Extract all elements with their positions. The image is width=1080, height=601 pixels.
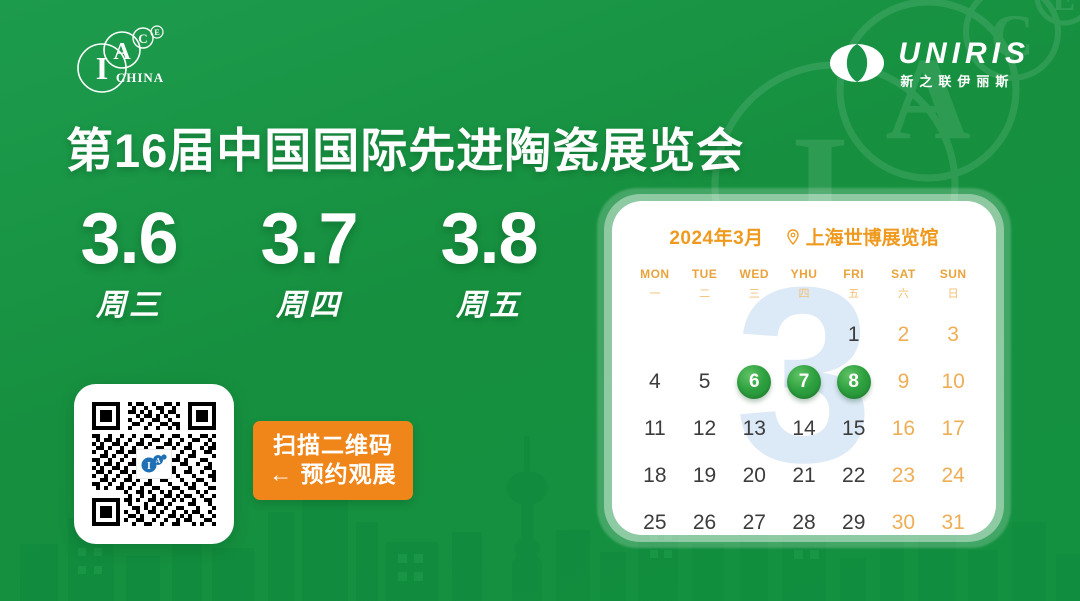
calendar-day: 4 (630, 358, 680, 405)
calendar-day: 13 (729, 405, 779, 452)
date-number: 3.7 (250, 205, 368, 274)
date-weekday: 周三 (70, 280, 188, 324)
calendar-day-highlighted[interactable]: 6 (729, 358, 779, 405)
svg-text:C: C (138, 31, 147, 46)
scan-button-line1: 扫描二维码 (273, 433, 393, 459)
calendar-weekday-mon: MON一 (630, 267, 680, 301)
calendar-day: 27 (729, 499, 779, 535)
date-item: 3.6 周三 (70, 205, 188, 324)
calendar-weekday-sat: SAT六 (879, 267, 929, 301)
calendar-day-badge: 8 (837, 365, 871, 399)
calendar-weekday-sun: SUN日 (928, 267, 978, 301)
calendar-day-highlighted[interactable]: 7 (779, 358, 829, 405)
uniris-brand-cn: 新之联伊丽斯 (898, 75, 1014, 88)
calendar-day: 2 (879, 311, 929, 358)
calendar-day: 18 (630, 452, 680, 499)
calendar-weekday-yhu: YHU四 (779, 267, 829, 301)
date-weekday: 周五 (430, 280, 548, 324)
calendar-day-empty (680, 311, 730, 358)
calendar-weekday-en: SAT (879, 267, 929, 281)
calendar-day: 23 (879, 452, 929, 499)
svg-text:I: I (147, 461, 151, 472)
calendar-weekday-en: MON (630, 267, 680, 281)
calendar-day: 21 (779, 452, 829, 499)
svg-text:E: E (1053, 0, 1076, 18)
calendar-day-grid: 1234567891011121314151617181920212223242… (630, 311, 978, 535)
calendar-weekday-cn: 一 (630, 285, 680, 301)
page-title: 第16届中国国际先进陶瓷展览会 (66, 112, 744, 181)
calendar-day: 31 (928, 499, 978, 535)
calendar-weekday-cn: 日 (928, 285, 978, 301)
calendar-day: 12 (680, 405, 730, 452)
calendar-weekday-en: WED (729, 267, 779, 281)
calendar-weekday-cn: 三 (729, 285, 779, 301)
calendar-day: 3 (928, 311, 978, 358)
calendar-venue-label: 上海世博展览馆 (806, 223, 939, 250)
calendar-weekday-en: YHU (779, 267, 829, 281)
date-item: 3.8 周五 (430, 205, 548, 324)
iace-china-logo: I A C E CHINA (68, 24, 196, 96)
uniris-mark-icon (829, 43, 885, 83)
calendar-day-empty (630, 311, 680, 358)
uniris-wordmark: UNIRIS 新之联伊丽斯 (898, 39, 1030, 88)
calendar-day: 17 (928, 405, 978, 452)
calendar-weekday-cn: 二 (680, 285, 730, 301)
calendar-day: 19 (680, 452, 730, 499)
calendar-day: 24 (928, 452, 978, 499)
uniris-logo: UNIRIS 新之联伊丽斯 (829, 38, 1030, 88)
calendar-day-badge: 6 (737, 365, 771, 399)
location-pin-icon (786, 229, 800, 245)
calendar-month-label: 2024年3月 (669, 223, 763, 250)
svg-text:A: A (113, 39, 131, 65)
calendar-weekday-en: FRI (829, 267, 879, 281)
calendar-venue: 上海世博展览馆 (786, 223, 939, 250)
calendar-day-empty (779, 311, 829, 358)
qr-code-image: I A (88, 398, 220, 530)
calendar-weekday-cn: 四 (779, 285, 829, 301)
calendar-day: 16 (879, 405, 929, 452)
calendar-weekday-wed: WED三 (729, 267, 779, 301)
calendar-day: 5 (680, 358, 730, 405)
calendar-header: 2024年3月 上海世博展览馆 (612, 223, 996, 250)
poster-canvas: I A C E (0, 0, 1080, 601)
calendar-day: 26 (680, 499, 730, 535)
svg-text:A: A (155, 457, 160, 465)
date-weekday: 周四 (250, 280, 368, 324)
calendar-weekday-en: SUN (928, 267, 978, 281)
calendar-day: 29 (829, 499, 879, 535)
calendar-weekday-en: TUE (680, 267, 730, 281)
calendar-day: 9 (879, 358, 929, 405)
calendar-day-highlighted[interactable]: 8 (829, 358, 879, 405)
scan-qr-button[interactable]: 扫描二维码 ← 预约观展 (253, 421, 413, 500)
date-item: 3.7 周四 (250, 205, 368, 324)
qr-code-card[interactable]: I A (74, 384, 234, 544)
qr-center-logo-icon: I A (136, 449, 172, 479)
calendar-day: 15 (829, 405, 879, 452)
uniris-brand: UNIRIS (898, 39, 1030, 69)
calendar-day: 11 (630, 405, 680, 452)
calendar-day: 25 (630, 499, 680, 535)
svg-text:I: I (96, 50, 108, 86)
calendar-day-empty (729, 311, 779, 358)
calendar-weekday-row: MON一TUE二WED三YHU四FRI五SAT六SUN日 (630, 267, 978, 301)
calendar-day-badge: 7 (787, 365, 821, 399)
calendar-weekday-tue: TUE二 (680, 267, 730, 301)
calendar-weekday-fri: FRI五 (829, 267, 879, 301)
calendar-weekday-cn: 五 (829, 285, 879, 301)
scan-button-line2: ← 预约观展 (269, 462, 396, 488)
calendar-day: 30 (879, 499, 929, 535)
calendar-day: 20 (729, 452, 779, 499)
calendar-day: 22 (829, 452, 879, 499)
svg-text:E: E (154, 28, 159, 37)
date-number: 3.6 (70, 205, 188, 274)
calendar-weekday-cn: 六 (879, 285, 929, 301)
svg-text:CHINA: CHINA (116, 70, 164, 85)
calendar-day: 1 (829, 311, 879, 358)
date-list: 3.6 周三 3.7 周四 3.8 周五 (70, 205, 548, 324)
calendar-day: 10 (928, 358, 978, 405)
calendar-day: 14 (779, 405, 829, 452)
calendar-day: 28 (779, 499, 829, 535)
date-number: 3.8 (430, 205, 548, 274)
calendar-card: 3 2024年3月 上海世博展览馆 MON一TUE二WED三YHU四FRI五SA… (612, 201, 996, 535)
